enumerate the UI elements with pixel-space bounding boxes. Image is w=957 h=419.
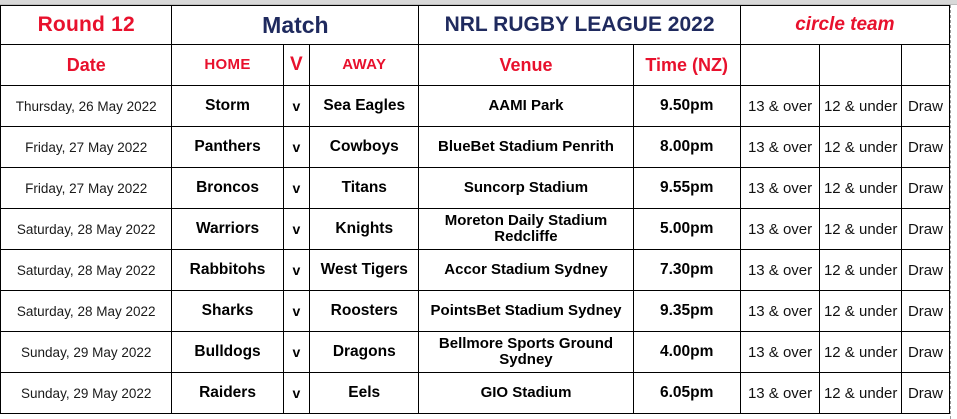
cell-venue: Suncorp Stadium xyxy=(419,168,633,209)
cell-under[interactable]: 12 & under xyxy=(820,127,902,168)
header-home: HOME xyxy=(172,45,283,86)
header-venue: Venue xyxy=(419,45,633,86)
header-home-label: HOME xyxy=(204,56,250,73)
cell-away[interactable]: Cowboys xyxy=(310,127,419,168)
nrl-draw-table: Round 12 Match NRL RUGBY LEAGUE 2022 cir… xyxy=(0,5,950,414)
cell-draw[interactable]: Draw xyxy=(901,250,949,291)
header-venue-label: Venue xyxy=(499,55,552,75)
cell-time: 7.30pm xyxy=(633,250,740,291)
cell-v: v xyxy=(283,332,310,373)
table-row: Friday, 27 May 2022 Panthers v Cowboys B… xyxy=(1,127,950,168)
cell-under[interactable]: 12 & under xyxy=(820,209,902,250)
cell-away[interactable]: Dragons xyxy=(310,332,419,373)
cell-over[interactable]: 13 & over xyxy=(740,127,820,168)
cell-date: Friday, 27 May 2022 xyxy=(1,127,172,168)
cell-over[interactable]: 13 & over xyxy=(740,250,820,291)
cell-under[interactable]: 12 & under xyxy=(820,332,902,373)
table-row: Saturday, 28 May 2022 Sharks v Roosters … xyxy=(1,291,950,332)
header-under xyxy=(820,45,902,86)
header-v: V xyxy=(283,45,310,86)
cell-draw[interactable]: Draw xyxy=(901,373,949,414)
cell-venue: BlueBet Stadium Penrith xyxy=(419,127,633,168)
cell-time: 8.00pm xyxy=(633,127,740,168)
cell-date: Saturday, 28 May 2022 xyxy=(1,250,172,291)
cell-away[interactable]: Roosters xyxy=(310,291,419,332)
header-away: AWAY xyxy=(310,45,419,86)
cell-away[interactable]: West Tigers xyxy=(310,250,419,291)
cell-date: Friday, 27 May 2022 xyxy=(1,168,172,209)
column-header-row: Date HOME V AWAY Venue Time (NZ) xyxy=(1,45,950,86)
cell-venue: GIO Stadium xyxy=(419,373,633,414)
cell-time: 6.05pm xyxy=(633,373,740,414)
cell-home[interactable]: Sharks xyxy=(172,291,283,332)
cell-over[interactable]: 13 & over xyxy=(740,209,820,250)
header-v-label: V xyxy=(290,54,303,75)
circle-team-label: circle team xyxy=(795,14,894,35)
cell-date: Saturday, 28 May 2022 xyxy=(1,209,172,250)
cell-v: v xyxy=(283,168,310,209)
cell-home[interactable]: Rabbitohs xyxy=(172,250,283,291)
cell-venue: Accor Stadium Sydney xyxy=(419,250,633,291)
cell-over[interactable]: 13 & over xyxy=(740,332,820,373)
cell-time: 9.35pm xyxy=(633,291,740,332)
match-label: Match xyxy=(262,12,328,38)
cell-draw[interactable]: Draw xyxy=(901,168,949,209)
cell-time: 9.55pm xyxy=(633,168,740,209)
cell-draw[interactable]: Draw xyxy=(901,86,949,127)
cell-date: Sunday, 29 May 2022 xyxy=(1,332,172,373)
cell-time: 4.00pm xyxy=(633,332,740,373)
cell-over[interactable]: 13 & over xyxy=(740,291,820,332)
cell-date: Thursday, 26 May 2022 xyxy=(1,86,172,127)
header-draw xyxy=(901,45,949,86)
cell-v: v xyxy=(283,373,310,414)
cell-home[interactable]: Broncos xyxy=(172,168,283,209)
cell-date: Sunday, 29 May 2022 xyxy=(1,373,172,414)
banner-row: Round 12 Match NRL RUGBY LEAGUE 2022 cir… xyxy=(1,6,950,45)
cell-v: v xyxy=(283,250,310,291)
table-row: Saturday, 28 May 2022 Rabbitohs v West T… xyxy=(1,250,950,291)
table-row: Saturday, 28 May 2022 Warriors v Knights… xyxy=(1,209,950,250)
cell-draw[interactable]: Draw xyxy=(901,332,949,373)
header-time-label: Time (NZ) xyxy=(645,55,728,75)
league-title-cell: NRL RUGBY LEAGUE 2022 xyxy=(419,6,740,45)
cell-home[interactable]: Panthers xyxy=(172,127,283,168)
cell-away[interactable]: Titans xyxy=(310,168,419,209)
cell-time: 5.00pm xyxy=(633,209,740,250)
round-banner-cell: Round 12 xyxy=(1,6,172,45)
cell-home[interactable]: Bulldogs xyxy=(172,332,283,373)
cell-under[interactable]: 12 & under xyxy=(820,250,902,291)
cell-venue: AAMI Park xyxy=(419,86,633,127)
cell-under[interactable]: 12 & under xyxy=(820,168,902,209)
cell-venue: Moreton Daily Stadium Redcliffe xyxy=(419,209,633,250)
table-row: Friday, 27 May 2022 Broncos v Titans Sun… xyxy=(1,168,950,209)
cell-away[interactable]: Sea Eagles xyxy=(310,86,419,127)
cell-draw[interactable]: Draw xyxy=(901,209,949,250)
cell-v: v xyxy=(283,209,310,250)
cell-draw[interactable]: Draw xyxy=(901,127,949,168)
circle-team-banner-cell: circle team xyxy=(740,6,949,45)
cell-date: Saturday, 28 May 2022 xyxy=(1,291,172,332)
cell-home[interactable]: Warriors xyxy=(172,209,283,250)
cell-under[interactable]: 12 & under xyxy=(820,373,902,414)
cell-home[interactable]: Storm xyxy=(172,86,283,127)
cell-over[interactable]: 13 & over xyxy=(740,373,820,414)
cell-under[interactable]: 12 & under xyxy=(820,86,902,127)
cell-v: v xyxy=(283,127,310,168)
table-row: Sunday, 29 May 2022 Bulldogs v Dragons B… xyxy=(1,332,950,373)
spreadsheet-sheet: Round 12 Match NRL RUGBY LEAGUE 2022 cir… xyxy=(0,5,957,419)
cell-time: 9.50pm xyxy=(633,86,740,127)
cell-over[interactable]: 13 & over xyxy=(740,168,820,209)
header-date: Date xyxy=(1,45,172,86)
cell-v: v xyxy=(283,86,310,127)
match-banner-cell: Match xyxy=(172,6,419,45)
header-time: Time (NZ) xyxy=(633,45,740,86)
cell-venue: Bellmore Sports Ground Sydney xyxy=(419,332,633,373)
cell-home[interactable]: Raiders xyxy=(172,373,283,414)
table-row: Sunday, 29 May 2022 Raiders v Eels GIO S… xyxy=(1,373,950,414)
cell-away[interactable]: Knights xyxy=(310,209,419,250)
cell-draw[interactable]: Draw xyxy=(901,291,949,332)
cell-under[interactable]: 12 & under xyxy=(820,291,902,332)
table-row: Thursday, 26 May 2022 Storm v Sea Eagles… xyxy=(1,86,950,127)
header-over xyxy=(740,45,820,86)
cell-over[interactable]: 13 & over xyxy=(740,86,820,127)
cell-venue: PointsBet Stadium Sydney xyxy=(419,291,633,332)
league-title: NRL RUGBY LEAGUE 2022 xyxy=(445,13,715,36)
print-area-boundary xyxy=(950,5,951,419)
cell-v: v xyxy=(283,291,310,332)
cell-away[interactable]: Eels xyxy=(310,373,419,414)
header-date-label: Date xyxy=(67,55,106,75)
round-label: Round 12 xyxy=(38,13,135,36)
header-away-label: AWAY xyxy=(342,56,386,73)
